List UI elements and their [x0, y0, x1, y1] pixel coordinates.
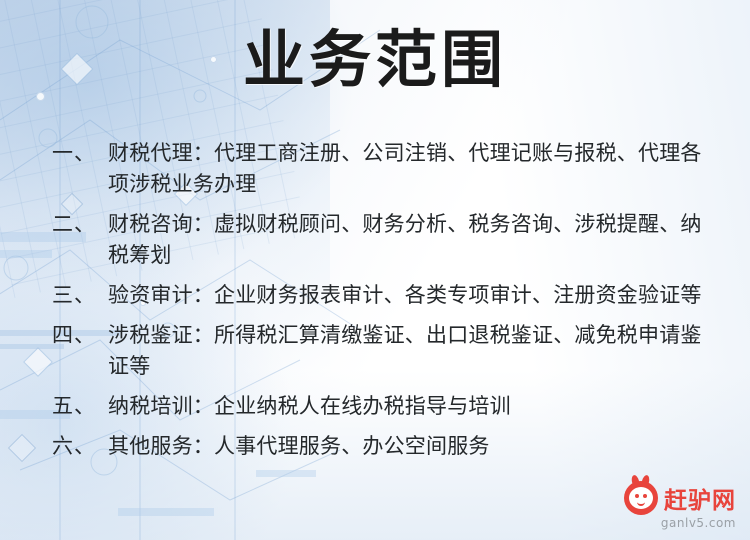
- page-title: 业务范围: [243, 26, 507, 94]
- list-item-text: 财税咨询：虚拟财税顾问、财务分析、税务咨询、涉税提醒、纳税筹划: [108, 209, 712, 271]
- service-scope-list: 一、 财税代理：代理工商注册、公司注销、代理记账与报税、代理各项涉税业务办理 二…: [52, 138, 712, 471]
- donkey-head-icon: [624, 481, 658, 515]
- list-item-number: 四、: [52, 320, 108, 351]
- list-item-number: 一、: [52, 138, 108, 169]
- list-item: 四、 涉税鉴证：所得税汇算清缴鉴证、出口退税鉴证、减免税申请鉴证等: [52, 320, 712, 382]
- title-container: 业务范围: [0, 26, 750, 94]
- watermark-brand: 赶驴网: [664, 481, 736, 515]
- list-item-number: 五、: [52, 391, 108, 422]
- list-item-text: 涉税鉴证：所得税汇算清缴鉴证、出口退税鉴证、减免税申请鉴证等: [108, 320, 712, 382]
- list-item: 三、 验资审计：企业财务报表审计、各类专项审计、注册资金验证等: [52, 280, 712, 311]
- slide-canvas: 业务范围 一、 财税代理：代理工商注册、公司注销、代理记账与报税、代理各项涉税业…: [0, 0, 750, 540]
- list-item-text: 财税代理：代理工商注册、公司注销、代理记账与报税、代理各项涉税业务办理: [108, 138, 712, 200]
- watermark-row: 赶驴网: [624, 481, 736, 515]
- list-item-number: 三、: [52, 280, 108, 311]
- list-item: 二、 财税咨询：虚拟财税顾问、财务分析、税务咨询、涉税提醒、纳税筹划: [52, 209, 712, 271]
- list-item: 六、 其他服务：人事代理服务、办公空间服务: [52, 431, 712, 462]
- watermark: 赶驴网 ganlv5.com: [624, 481, 736, 530]
- list-item: 五、 纳税培训：企业纳税人在线办税指导与培训: [52, 391, 712, 422]
- list-item-number: 二、: [52, 209, 108, 240]
- list-item-text: 验资审计：企业财务报表审计、各类专项审计、注册资金验证等: [108, 280, 712, 311]
- list-item-text: 纳税培训：企业纳税人在线办税指导与培训: [108, 391, 712, 422]
- list-item-text: 其他服务：人事代理服务、办公空间服务: [108, 431, 712, 462]
- list-item: 一、 财税代理：代理工商注册、公司注销、代理记账与报税、代理各项涉税业务办理: [52, 138, 712, 200]
- list-item-number: 六、: [52, 431, 108, 462]
- watermark-domain: ganlv5.com: [661, 516, 736, 530]
